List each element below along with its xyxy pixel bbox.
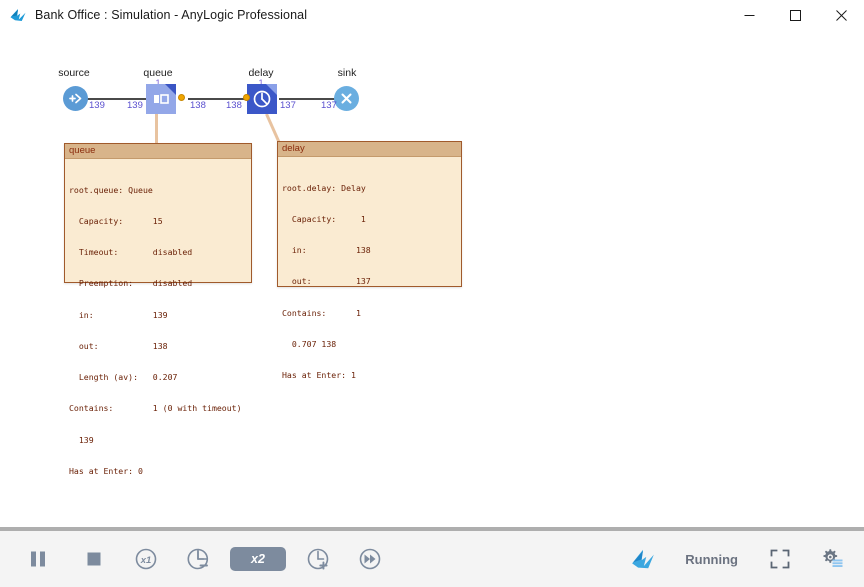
run-fast-button[interactable] — [348, 537, 392, 581]
tooltip-queue-title: queue — [69, 146, 95, 156]
close-icon — [836, 10, 847, 21]
close-button[interactable] — [818, 0, 864, 30]
tooltip-delay-line-6: Has at Enter: 1 — [282, 370, 457, 380]
block-queue[interactable] — [146, 84, 176, 114]
svg-text:x1: x1 — [140, 555, 152, 566]
block-label-source: source — [44, 67, 104, 79]
settings-button[interactable] — [810, 537, 854, 581]
tooltip-delay-line-0: root.delay: Delay — [282, 183, 457, 193]
tooltip-queue-header-bar: queue — [65, 144, 251, 159]
slow-down-button[interactable] — [176, 537, 220, 581]
tooltip-queue-line-2: Timeout: disabled — [69, 247, 247, 257]
block-sink[interactable] — [334, 86, 359, 111]
tooltip-queue-line-4: in: 139 — [69, 310, 247, 320]
delay-corner-marker — [266, 84, 277, 95]
tooltip-queue-line-8: 139 — [69, 435, 247, 445]
block-source[interactable] — [63, 86, 88, 111]
flow-count-queue-in: 139 — [127, 100, 143, 111]
simulation-control-bar: x1 x2 — [0, 531, 864, 587]
tooltip-delay-line-2: in: 138 — [282, 245, 457, 255]
speed-up-button[interactable] — [296, 537, 340, 581]
clock-plus-icon — [306, 547, 330, 571]
tooltip-delay-body: root.delay: Delay Capacity: 1 in: 138 ou… — [278, 157, 461, 405]
port-queue-out[interactable] — [178, 94, 185, 101]
fullscreen-icon — [769, 548, 791, 570]
settings-gear-icon — [819, 546, 845, 572]
queue-corner-marker — [165, 84, 176, 95]
simulation-canvas[interactable]: source queue 1 delay 1 sink 139 — [0, 30, 864, 527]
tooltip-queue-body: root.queue: Queue Capacity: 15 Timeout: … — [65, 159, 251, 501]
minimize-button[interactable] — [726, 0, 772, 30]
realtime-x1-button[interactable]: x1 — [124, 537, 168, 581]
sink-x-icon — [339, 91, 354, 106]
maximize-icon — [790, 10, 801, 21]
tooltip-delay-title: delay — [282, 144, 305, 154]
tooltip-delay-line-3: out: 137 — [282, 276, 457, 286]
status-badge: Running — [685, 552, 738, 567]
anylogic-logo-icon — [630, 546, 656, 572]
tooltip-delay-header-bar: delay — [278, 142, 461, 157]
fast-forward-icon — [358, 547, 382, 571]
title-bar: Bank Office : Simulation - AnyLogic Prof… — [0, 0, 864, 31]
block-delay[interactable] — [247, 84, 277, 114]
anylogic-brand-button[interactable] — [621, 537, 665, 581]
flow-count-source-out: 139 — [89, 100, 105, 111]
port-delay-in[interactable] — [243, 94, 250, 101]
flow-count-queue-out: 138 — [190, 100, 206, 111]
tooltip-queue-line-1: Capacity: 15 — [69, 216, 247, 226]
tooltip-queue-line-0: root.queue: Queue — [69, 185, 247, 195]
anylogic-logo-icon — [9, 6, 27, 24]
tooltip-queue-line-7: Contains: 1 (0 with timeout) — [69, 403, 247, 413]
window-controls — [726, 0, 864, 30]
minimize-icon — [744, 10, 755, 21]
flow-count-delay-out: 137 — [280, 100, 296, 111]
speed-badge[interactable]: x2 — [230, 547, 286, 571]
clock-minus-icon — [186, 547, 210, 571]
tooltip-queue-line-6: Length (av): 0.207 — [69, 372, 247, 382]
tooltip-queue: queue root.queue: Queue Capacity: 15 Tim… — [64, 143, 252, 283]
block-label-sink: sink — [317, 67, 377, 79]
tooltip-delay-line-1: Capacity: 1 — [282, 214, 457, 224]
stop-icon — [83, 548, 105, 570]
flow-count-sink-in: 137 — [321, 100, 337, 111]
pause-icon — [27, 548, 49, 570]
tooltip-delay: delay root.delay: Delay Capacity: 1 in: … — [277, 141, 462, 287]
tooltip-queue-line-9: Has at Enter: 0 — [69, 466, 247, 476]
maximize-button[interactable] — [772, 0, 818, 30]
tooltip-queue-line-3: Preemption: disabled — [69, 278, 247, 288]
x1-circle-icon: x1 — [134, 547, 158, 571]
window-title: Bank Office : Simulation - AnyLogic Prof… — [35, 8, 307, 22]
pause-button[interactable] — [16, 537, 60, 581]
source-icon — [67, 90, 84, 107]
fullscreen-button[interactable] — [758, 537, 802, 581]
stop-button[interactable] — [72, 537, 116, 581]
anylogic-simulation-window: Bank Office : Simulation - AnyLogic Prof… — [0, 0, 864, 587]
tooltip-delay-line-5: 0.707 138 — [282, 339, 457, 349]
tooltip-queue-line-5: out: 138 — [69, 341, 247, 351]
flow-count-delay-in: 138 — [226, 100, 242, 111]
tooltip-delay-line-4: Contains: 1 — [282, 308, 457, 318]
